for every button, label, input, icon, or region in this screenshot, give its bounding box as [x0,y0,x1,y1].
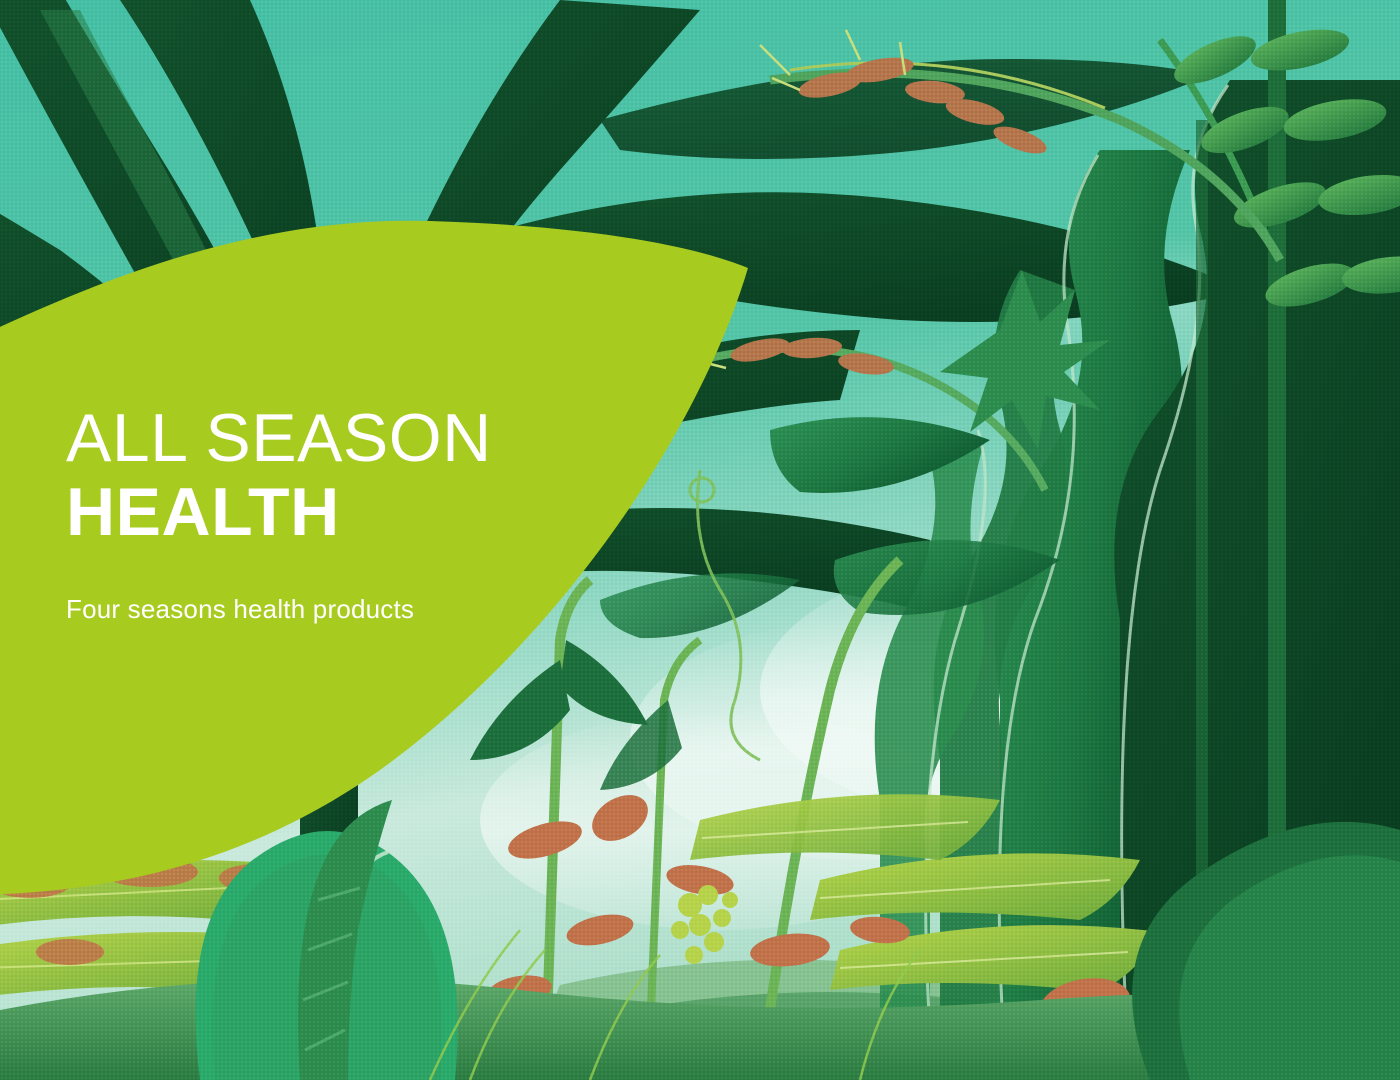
headline-line-1: ALL SEASON [66,404,626,472]
headline-block: ALL SEASON HEALTH Four seasons health pr… [66,404,626,625]
subtitle-text: Four seasons health products [66,594,626,625]
slide-canvas: ALL SEASON HEALTH Four seasons health pr… [0,0,1400,1080]
headline-line-2: HEALTH [66,478,626,546]
